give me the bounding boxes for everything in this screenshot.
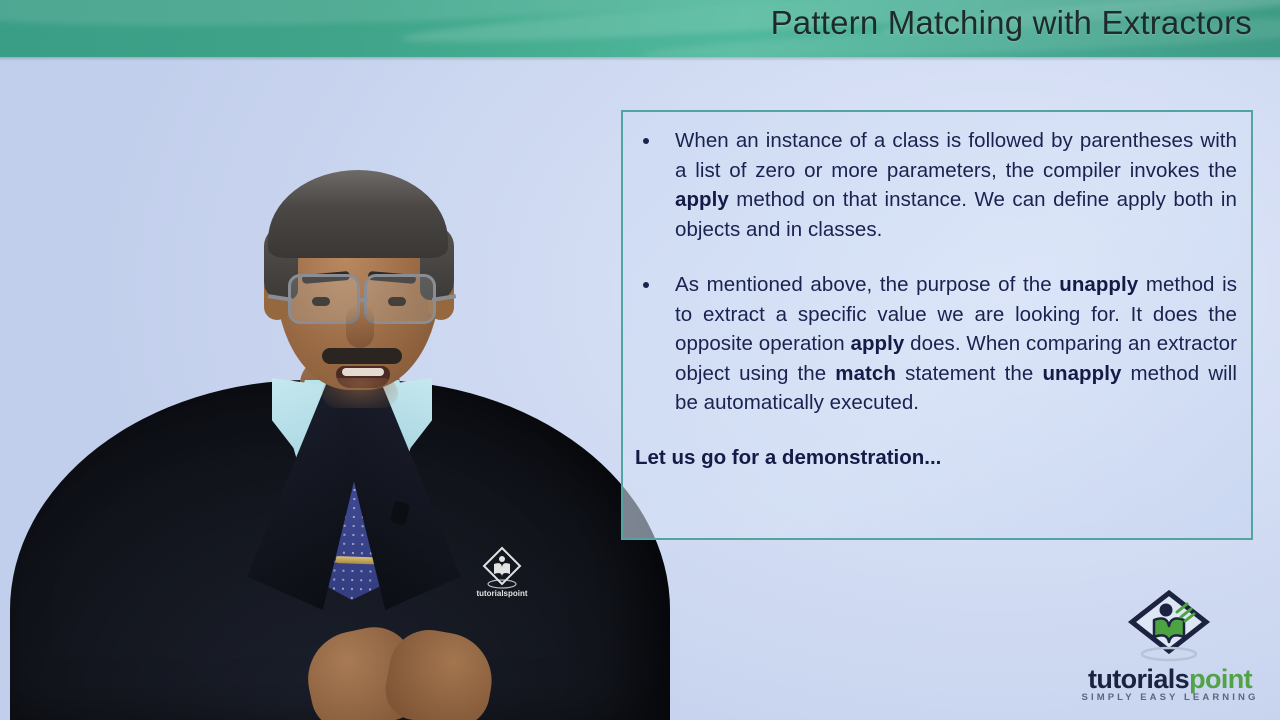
presenter-chin xyxy=(322,378,398,408)
closing-line: Let us go for a demonstration... xyxy=(635,444,1237,472)
bullet-text: As mentioned above, the purpose of the u… xyxy=(675,270,1237,418)
logo-word-secondary: point xyxy=(1189,664,1252,694)
presenter-glasses-lens-right xyxy=(364,274,436,324)
slide-header-band: Pattern Matching with Extractors xyxy=(0,0,1280,57)
bullet-item: As mentioned above, the purpose of the u… xyxy=(633,270,1237,418)
content-text-box: When an instance of a class is followed … xyxy=(621,110,1253,540)
presenter-hair xyxy=(268,170,448,258)
bullet-dot-icon xyxy=(643,138,649,144)
suit-embroidered-logo-icon: tutorialspoint xyxy=(470,544,534,600)
presenter-mustache xyxy=(322,348,402,364)
logo-tagline: SIMPLY EASY LEARNING xyxy=(1075,692,1265,703)
bullet-dot-icon xyxy=(643,282,649,288)
bullet-text: When an instance of a class is followed … xyxy=(675,126,1237,244)
presenter-figure: tutorialspoint xyxy=(0,52,700,720)
bullet-item: When an instance of a class is followed … xyxy=(633,126,1237,244)
presenter-teeth xyxy=(342,368,384,376)
lecture-slide: Pattern Matching with Extractors tutoria… xyxy=(0,0,1280,720)
tutorialspoint-wordmark: tutorialspoint xyxy=(1075,664,1265,694)
presenter-nose xyxy=(346,304,374,348)
presenter-glasses-bridge xyxy=(358,298,368,302)
logo-word-primary: tutorials xyxy=(1088,664,1189,694)
svg-text:tutorialspoint: tutorialspoint xyxy=(476,589,527,598)
slide-title: Pattern Matching with Extractors xyxy=(771,4,1252,42)
tutorialspoint-diamond-icon xyxy=(1121,588,1217,670)
tutorialspoint-logo: tutorialspoint SIMPLY EASY LEARNING xyxy=(1075,588,1265,710)
